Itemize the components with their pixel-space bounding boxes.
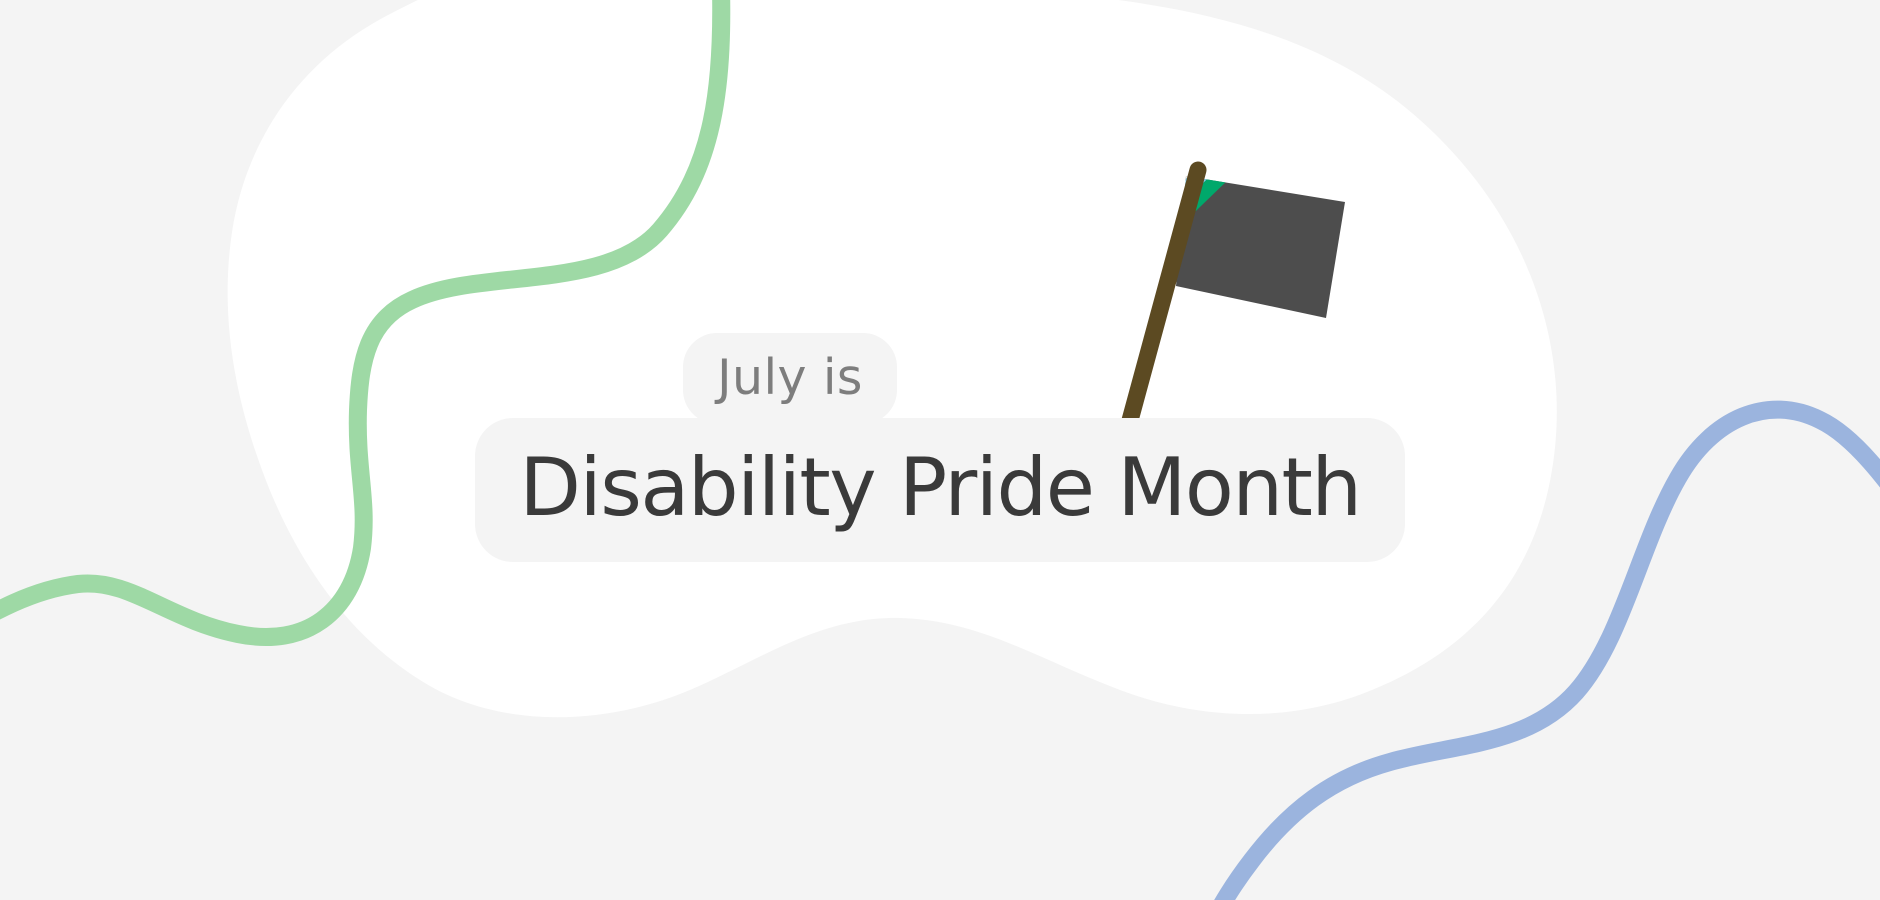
eyebrow-label: July is [683, 333, 897, 424]
banner-text-block: July is Disability Pride Month [0, 333, 1880, 562]
eyebrow-row: July is [0, 333, 1880, 424]
page-title: Disability Pride Month [475, 418, 1404, 562]
title-row: Disability Pride Month [0, 418, 1880, 562]
disability-pride-month-banner: July is Disability Pride Month [0, 0, 1880, 900]
